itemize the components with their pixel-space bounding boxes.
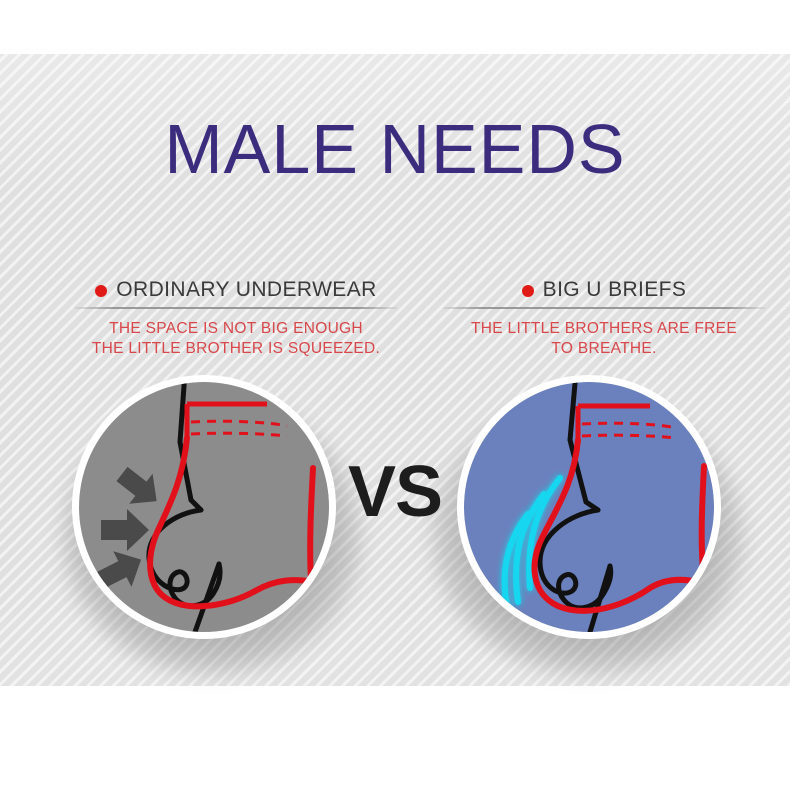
- diagram-background-left: [79, 382, 329, 632]
- red-dot-icon: [95, 285, 107, 297]
- column-header-left: ORDINARY UNDERWEAR: [75, 278, 397, 302]
- subtitle-line-2-left: THE LITTLE BROTHER IS SQUEEZED.: [75, 339, 397, 359]
- subtitle-line-1-left: THE SPACE IS NOT BIG ENOUGH: [75, 319, 397, 339]
- column-ordinary-underwear: ORDINARY UNDERWEAR THE SPACE IS NOT BIG …: [75, 278, 397, 359]
- column-subtitle-left: THE SPACE IS NOT BIG ENOUGH THE LITTLE B…: [75, 319, 397, 359]
- garment-side-seam-right: [702, 466, 704, 582]
- garment-side-seam-left: [310, 468, 313, 580]
- column-header-right: BIG U BRIEFS: [443, 278, 765, 302]
- big-u-briefs-svg: [464, 382, 714, 632]
- column-big-u-briefs: BIG U BRIEFS THE LITTLE BROTHERS ARE FRE…: [443, 278, 765, 359]
- column-heading-right: BIG U BRIEFS: [543, 278, 687, 302]
- big-u-briefs-diagram: [457, 375, 721, 639]
- subtitle-line-1-right: THE LITTLE BROTHERS ARE FREE: [443, 319, 765, 339]
- column-heading-left: ORDINARY UNDERWEAR: [116, 278, 376, 302]
- infographic-canvas: MALE NEEDS ORDINARY UNDERWEAR THE SPACE …: [0, 0, 790, 790]
- page-title: MALE NEEDS: [0, 114, 790, 184]
- header-divider-left: [75, 307, 397, 309]
- column-subtitle-right: THE LITTLE BROTHERS ARE FREE TO BREATHE.: [443, 319, 765, 359]
- subtitle-line-2-right: TO BREATHE.: [443, 339, 765, 359]
- ordinary-underwear-diagram: [72, 375, 336, 639]
- ordinary-underwear-svg: [79, 382, 329, 632]
- header-divider-right: [443, 307, 765, 309]
- red-dot-icon: [522, 285, 534, 297]
- versus-label: VS: [336, 456, 454, 528]
